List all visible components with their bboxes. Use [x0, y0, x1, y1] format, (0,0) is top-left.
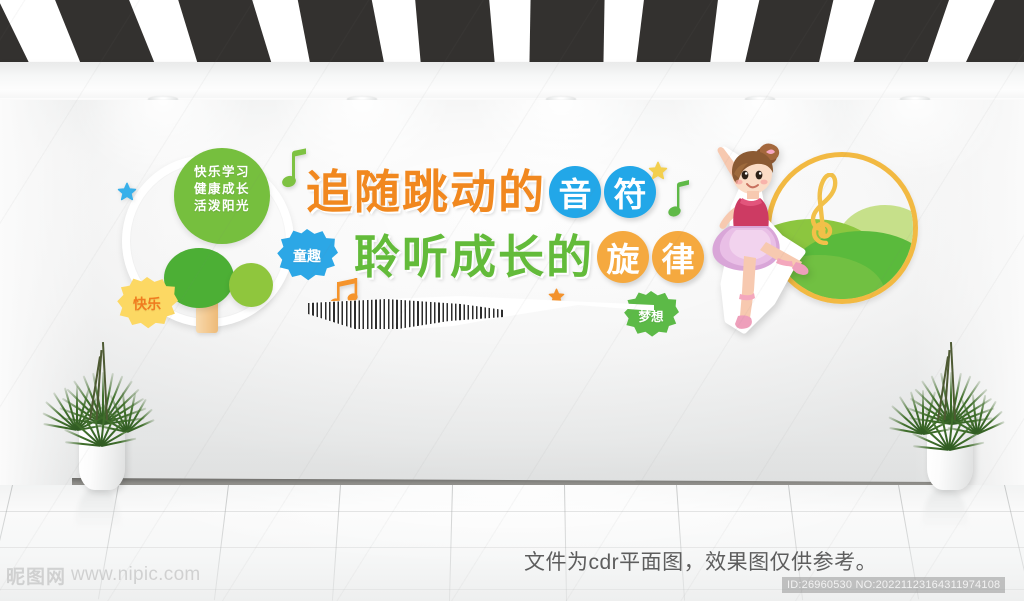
piano-keyboard-wave [308, 296, 654, 332]
title-circle-char: 旋 [597, 231, 649, 283]
title-char: 聆 [354, 234, 400, 280]
title-circle-char: 音 [549, 166, 601, 218]
title-char: 追 [306, 169, 352, 215]
image-id-badge: ID:26960530 NO:20221123164311974108 [782, 577, 1005, 593]
tree-slogan-line2: 健康成长 [172, 181, 272, 198]
title-row-1: 追 随 跳 动 的 音 符 [306, 166, 656, 218]
tree-slogan: 快乐学习 健康成长 活泼阳光 [172, 164, 272, 215]
green-note-icon [668, 180, 692, 220]
title-char: 的 [546, 234, 592, 280]
title-char: 听 [402, 234, 448, 280]
blue-star-icon [117, 182, 137, 202]
tree-slogan-line3: 活泼阳光 [172, 198, 272, 215]
title-char: 的 [498, 169, 544, 215]
treble-clef-icon [809, 173, 843, 245]
title-char: 随 [354, 169, 400, 215]
palm-plant-right [898, 258, 1002, 490]
disclaimer-note: 文件为cdr平面图，效果图仅供参考。 [524, 546, 877, 576]
badge-fun-label: 童趣 [293, 246, 321, 266]
tree-leaf-small [229, 263, 273, 307]
yellow-star-icon [648, 161, 668, 181]
title-char: 跳 [402, 169, 448, 215]
title-char: 成 [450, 234, 496, 280]
room-scene: 快乐学习 健康成长 活泼阳光 快乐 童趣 梦想 追 随 跳 动 的 [0, 0, 1024, 601]
ballerina-dancer [694, 134, 814, 344]
title-char: 长 [498, 234, 544, 280]
title-char: 动 [450, 169, 496, 215]
palm-plant-left [50, 258, 154, 490]
tree-slogan-line1: 快乐学习 [172, 164, 272, 181]
title-row-2: 聆 听 成 长 的 旋 律 [354, 231, 704, 283]
